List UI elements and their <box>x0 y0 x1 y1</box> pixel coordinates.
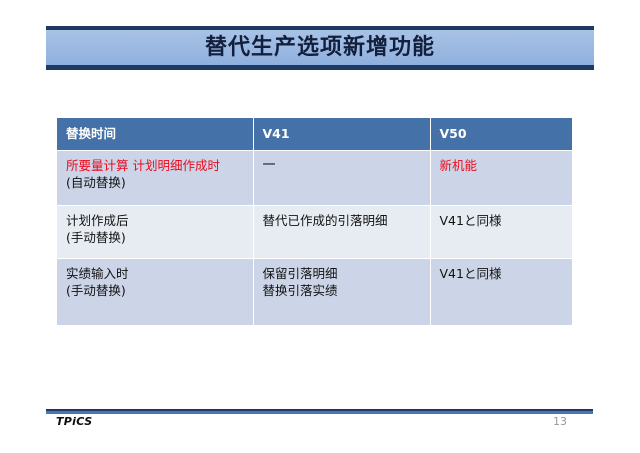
cell-v50: V41と同様 <box>430 206 572 259</box>
cell-v50-line-1: V41と同様 <box>440 265 565 282</box>
cell-timing-line-1: 实绩输入时 <box>66 265 245 282</box>
footer-logo: TPiCS <box>56 415 92 428</box>
table-header-row: 替换时间 V41 V50 <box>57 118 572 151</box>
cell-timing: 计划作成后 (手动替换) <box>57 206 253 259</box>
slide-title-banner: 替代生产选项新增功能 <box>46 26 594 70</box>
cell-v41: 一 <box>253 151 430 206</box>
column-header-v50: V50 <box>430 118 572 151</box>
footer-divider <box>46 409 593 414</box>
cell-v50: V41と同様 <box>430 259 572 326</box>
table-row: 计划作成后 (手动替换) 替代已作成的引落明细 V41と同様 <box>57 206 572 259</box>
page-number: 13 <box>545 415 575 428</box>
table-row: 实绩输入时 (手动替换) 保留引落明细 替换引落实绩 V41と同様 <box>57 259 572 326</box>
cell-v41-line-1: 一 <box>263 157 422 174</box>
cell-v41-line-1: 保留引落明细 <box>263 265 422 282</box>
cell-v41: 保留引落明细 替换引落实绩 <box>253 259 430 326</box>
cell-timing-line-2: (手动替换) <box>66 229 245 246</box>
feature-comparison-table: 替换时间 V41 V50 所要量计算 计划明细作成时 (自动替换) 一 新机能 … <box>57 118 572 326</box>
cell-timing-line-1: 计划作成后 <box>66 212 245 229</box>
cell-timing: 所要量计算 计划明细作成时 (自动替换) <box>57 151 253 206</box>
cell-v41: 替代已作成的引落明细 <box>253 206 430 259</box>
column-header-v41: V41 <box>253 118 430 151</box>
cell-v41-line-2: 替换引落实绩 <box>263 282 422 299</box>
cell-v50-line-1: V41と同様 <box>440 212 565 229</box>
cell-timing-line-1: 所要量计算 计划明细作成时 <box>66 157 245 174</box>
cell-v50: 新机能 <box>430 151 572 206</box>
page-title: 替代生产选项新增功能 <box>205 37 435 59</box>
cell-v50-line-1: 新机能 <box>440 157 565 174</box>
cell-timing-line-2: (手动替换) <box>66 282 245 299</box>
cell-v41-line-1: 替代已作成的引落明细 <box>263 212 422 229</box>
table-row: 所要量计算 计划明细作成时 (自动替换) 一 新机能 <box>57 151 572 206</box>
cell-timing: 实绩输入时 (手动替换) <box>57 259 253 326</box>
cell-timing-line-2: (自动替换) <box>66 174 245 191</box>
column-header-timing: 替换时间 <box>57 118 253 151</box>
